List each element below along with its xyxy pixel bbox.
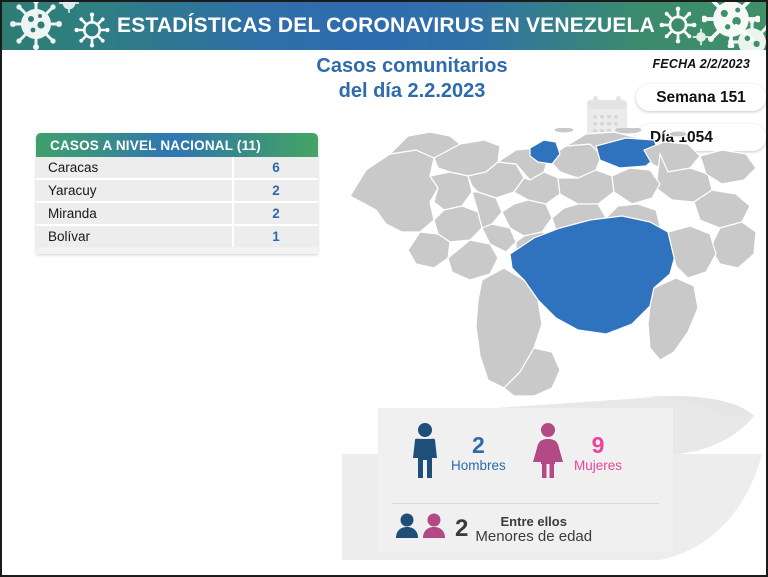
map-state — [648, 278, 698, 360]
row-value: 2 — [232, 203, 318, 224]
card-divider — [392, 503, 659, 504]
female-icon — [531, 422, 565, 485]
row-value: 6 — [232, 157, 318, 178]
fecha-label: FECHA 2/2/2023 — [652, 57, 750, 71]
male-icon — [408, 422, 442, 485]
row-name: Yaracuy — [36, 183, 232, 198]
minors-line-1: Entre ellos — [475, 514, 592, 529]
map-island — [554, 128, 574, 133]
map-state — [612, 168, 660, 204]
map-state — [710, 222, 756, 268]
minors-line-2: Menores de edad — [475, 529, 592, 544]
table-row[interactable]: Yaracuy 2 — [36, 180, 318, 203]
subtitle-line-1: Casos comunitarios — [234, 54, 590, 79]
men-stat: 2 Hombres — [408, 422, 506, 485]
table-title: CASOS A NIVEL NACIONAL (11) — [50, 138, 261, 153]
women-text: 9 Mujeres — [574, 434, 622, 474]
map-state — [668, 226, 716, 278]
row-value: 2 — [232, 180, 318, 201]
map-state — [350, 150, 438, 232]
week-badge-label: Semana 151 — [656, 89, 746, 107]
table-row[interactable]: Caracas 6 — [36, 157, 318, 180]
men-value: 2 — [472, 434, 485, 457]
infographic-canvas: ESTADÍSTICAS DEL CORONAVIRUS EN VENEZUEL… — [2, 2, 766, 575]
map-state — [408, 232, 450, 268]
row-name: Bolívar — [36, 229, 232, 244]
table-row[interactable]: Miranda 2 — [36, 203, 318, 226]
page-title: ESTADÍSTICAS DEL CORONAVIRUS EN VENEZUEL… — [2, 2, 766, 50]
minors-stat: 2 Entre ellos Menores de edad — [394, 512, 592, 545]
women-label: Mujeres — [574, 457, 622, 474]
map-island — [669, 131, 687, 137]
table-footer — [36, 247, 318, 254]
week-badge[interactable]: Semana 151 — [636, 84, 766, 111]
map-state — [448, 240, 498, 280]
table-header: CASOS A NIVEL NACIONAL (11) — [36, 133, 318, 157]
venezuela-map — [338, 128, 766, 408]
table-body: Caracas 6 Yaracuy 2 Miranda 2 Bolívar 1 — [36, 157, 318, 247]
map-state — [558, 170, 614, 204]
minors-value: 2 — [455, 516, 468, 542]
map-island — [614, 128, 642, 134]
two-people-icon — [394, 512, 448, 545]
demographics-card: 2 Hombres 9 Mujeres — [378, 408, 673, 552]
row-name: Miranda — [36, 206, 232, 221]
row-value: 1 — [232, 226, 318, 247]
women-stat: 9 Mujeres — [531, 422, 622, 485]
table-row[interactable]: Bolívar 1 — [36, 226, 318, 247]
map-state — [644, 142, 700, 172]
minors-text: Entre ellos Menores de edad — [475, 514, 592, 544]
men-label: Hombres — [451, 457, 506, 474]
row-name: Caracas — [36, 160, 232, 175]
men-text: 2 Hombres — [451, 434, 506, 474]
subtitle-block: Casos comunitarios del día 2.2.2023 — [234, 54, 590, 104]
women-value: 9 — [592, 434, 605, 457]
national-cases-table: CASOS A NIVEL NACIONAL (11) Caracas 6 Ya… — [36, 133, 318, 254]
header-band: ESTADÍSTICAS DEL CORONAVIRUS EN VENEZUEL… — [2, 2, 766, 50]
subtitle-line-2: del día 2.2.2023 — [234, 79, 590, 104]
